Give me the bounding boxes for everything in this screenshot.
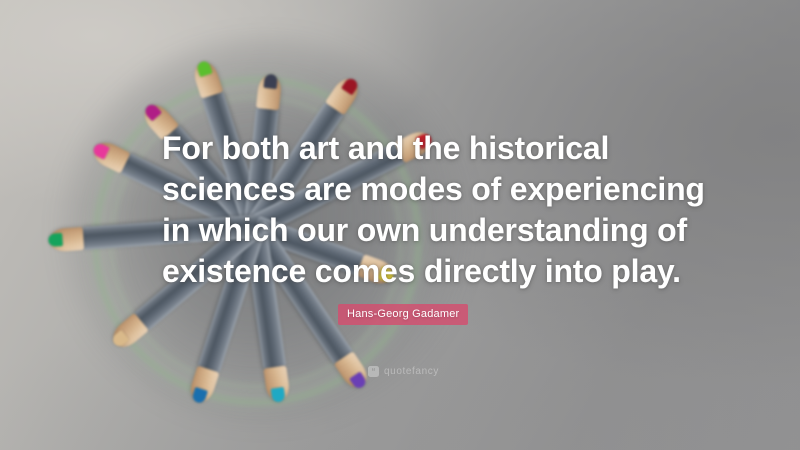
pencil-tip xyxy=(49,227,85,252)
pencil-wood-grain xyxy=(55,229,82,250)
pencil-wood-grain xyxy=(195,66,221,97)
watermark: “ quotefancy xyxy=(368,366,439,377)
pencil-wood-grain xyxy=(266,368,288,396)
quote-line-3: in which our own understanding of xyxy=(162,210,654,251)
pencil-wood-grain xyxy=(191,368,217,399)
watermark-label: quotefancy xyxy=(384,366,439,377)
pencil-wood-grain xyxy=(337,354,367,386)
quote-image-canvas: For both art and the historicalsciences … xyxy=(0,0,800,450)
quote-line-2: sciences are modes of experiencing xyxy=(162,169,654,210)
pencil-wood-grain xyxy=(258,80,280,108)
quote-line-1: For both art and the historical xyxy=(162,128,654,169)
pencil-wood-grain xyxy=(96,143,128,171)
pencil-tip xyxy=(191,59,223,98)
pencil-wood-grain xyxy=(328,80,358,112)
quote-text: For both art and the historicalsciences … xyxy=(162,128,654,292)
pencil-tip xyxy=(256,74,282,110)
pencil-tip xyxy=(187,366,219,405)
pencil-tip xyxy=(263,366,291,403)
quote-line-4: existence comes directly into play. xyxy=(162,251,654,292)
quote-badge-icon: “ xyxy=(368,366,379,377)
author-badge: Hans-Georg Gadamer xyxy=(338,304,468,325)
